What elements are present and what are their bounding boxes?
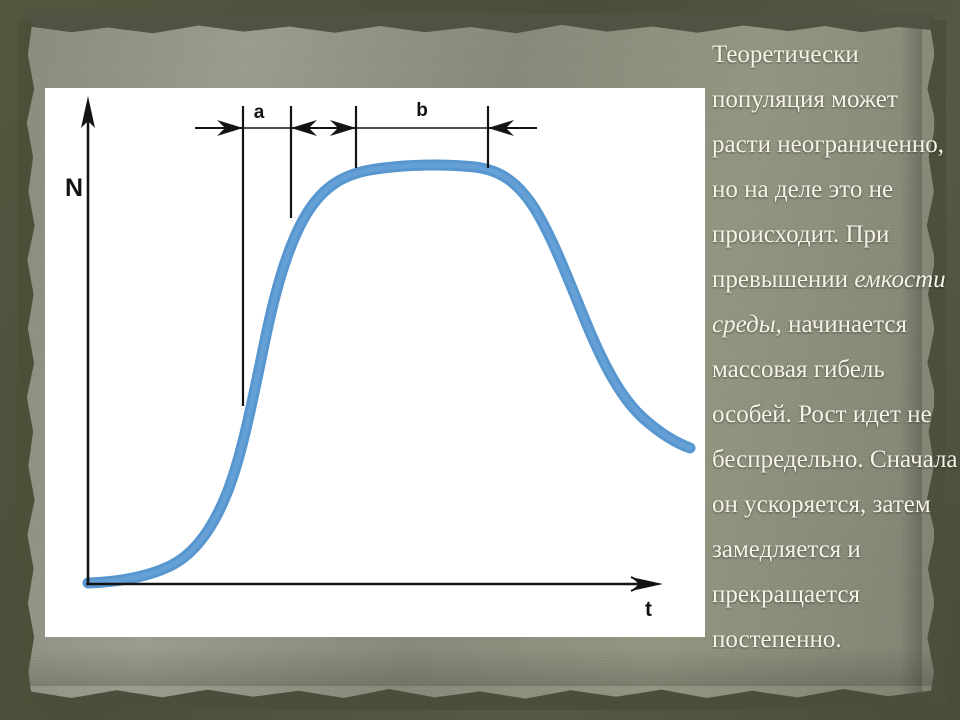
- interval-marker-a: a: [195, 102, 343, 406]
- body-text-part1: Теоретически популяция может расти неогр…: [712, 41, 944, 293]
- population-growth-chart: N t a: [45, 88, 705, 637]
- x-axis-label: t: [645, 598, 652, 621]
- interval-b-label: b: [416, 100, 428, 121]
- chart-panel: N t a: [45, 88, 705, 637]
- body-paragraph: Теоретически популяция может расти неогр…: [712, 32, 960, 662]
- growth-curve: [88, 165, 690, 583]
- body-text-part2: , начинается массовая гибель особей. Рос…: [712, 311, 958, 653]
- body-text-block: Теоретически популяция может расти неогр…: [712, 32, 960, 662]
- y-axis: [81, 96, 95, 585]
- x-axis: [86, 577, 663, 591]
- interval-a-label: a: [254, 102, 265, 123]
- slide-canvas: N t a: [0, 0, 960, 720]
- y-axis-label: N: [65, 174, 83, 202]
- interval-marker-b: b: [311, 100, 537, 168]
